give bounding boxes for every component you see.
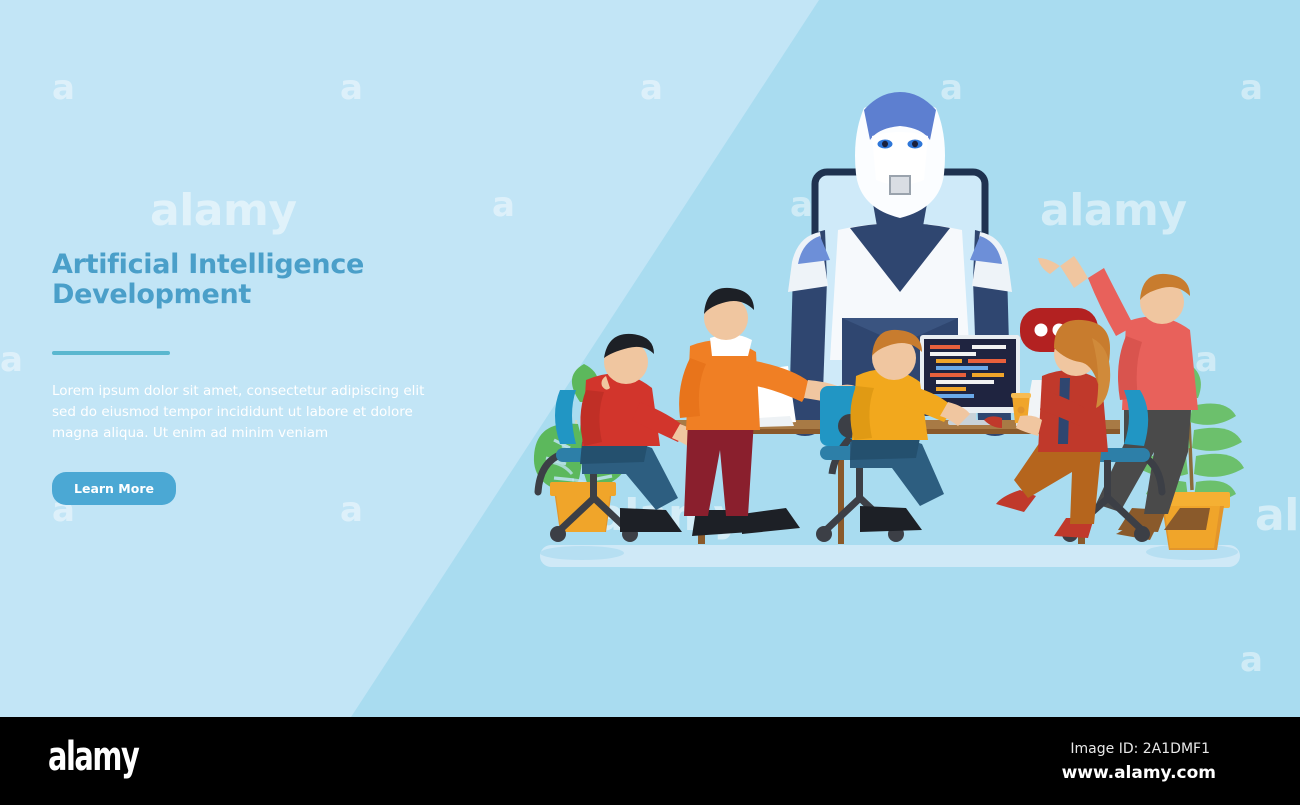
ai-office-scene: [520, 90, 1280, 590]
alamy-logo: alamy: [48, 737, 138, 777]
illustration-canvas: alamyalamyalamyalamyaaaaaaaaaaaa Artific…: [0, 0, 1300, 717]
website-label: www.alamy.com: [1062, 763, 1216, 783]
image-id-label: Image ID: 2A1DMF1: [1070, 741, 1210, 757]
alamy-footer-bar: alamy Image ID: 2A1DMF1 www.alamy.com: [0, 717, 1300, 805]
page-title: Artificial Intelligence Development: [52, 250, 552, 309]
screenshot-stage: alamyalamyalamyalamyaaaaaaaaaaaa Artific…: [0, 0, 1300, 805]
floor-strip: [540, 545, 1240, 567]
learn-more-button[interactable]: Learn More: [52, 472, 176, 505]
title-underline-rule: [52, 351, 170, 355]
hero-copy-block: Artificial Intelligence Development Lore…: [52, 250, 552, 505]
hero-paragraph: Lorem ipsum dolor sit amet, consectetur …: [52, 381, 442, 444]
robot-mouth-vent: [890, 176, 910, 194]
